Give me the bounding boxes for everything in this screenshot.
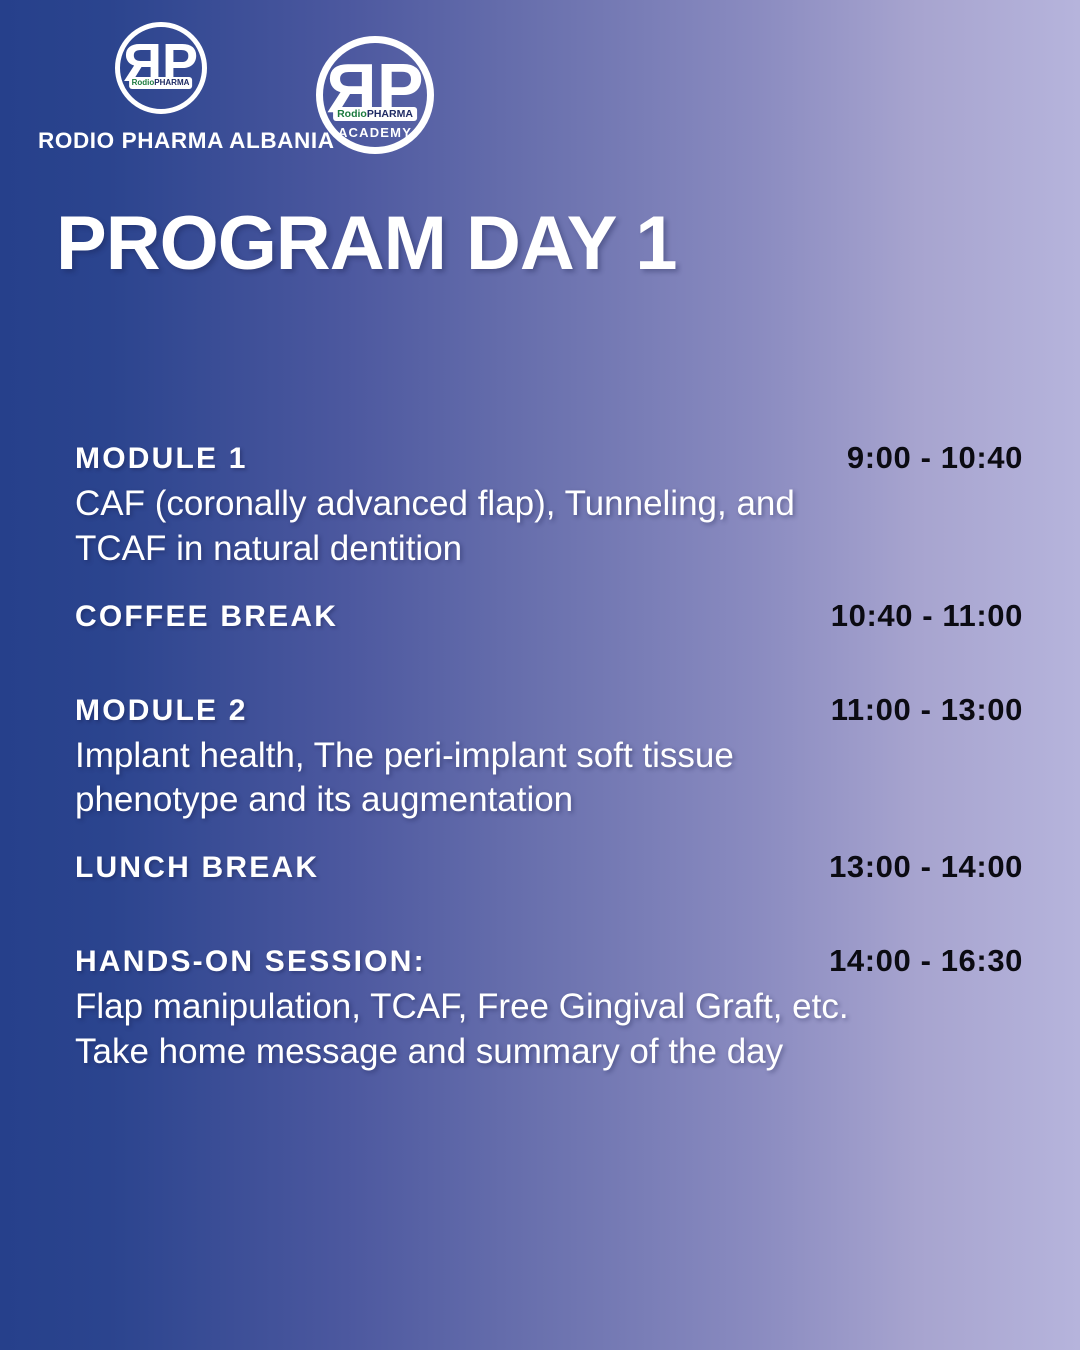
badge-green-text: Rodio (337, 108, 367, 120)
rodio-pharma-albania-logo: RP RodioPHARMA RODIO PHARMA ALBANIA (38, 22, 283, 154)
schedule-label: MODULE 1 (75, 442, 248, 476)
rp-monogram-icon: RP RodioPHARMA (115, 22, 207, 114)
schedule-row-head: MODULE 1 9:00 - 10:40 (75, 440, 1023, 476)
rp-academy-monogram-icon: RP RodioPHARMA ACADEMY (316, 36, 434, 154)
schedule-row: MODULE 2 11:00 - 13:00 Implant health, T… (75, 692, 1023, 824)
schedule-time: 9:00 - 10:40 (847, 440, 1023, 476)
schedule-row: LUNCH BREAK 13:00 - 14:00 (75, 849, 1023, 885)
schedule-row-head: COFFEE BREAK 10:40 - 11:00 (75, 598, 1023, 634)
rodio-pharma-badge: RodioPHARMA (333, 107, 417, 122)
schedule-list: MODULE 1 9:00 - 10:40 CAF (coronally adv… (75, 440, 1023, 1075)
spacer (75, 885, 1023, 943)
schedule-label: LUNCH BREAK (75, 851, 319, 885)
academy-word: ACADEMY (338, 126, 412, 139)
schedule-description: Flap manipulation, TCAF, Free Gingival G… (75, 985, 1023, 1075)
spacer (75, 634, 1023, 692)
schedule-description: CAF (coronally advanced flap), Tunneling… (75, 482, 1023, 572)
rodio-pharma-academy-logo: RP RodioPHARMA ACADEMY (310, 36, 440, 154)
spacer (75, 572, 1023, 598)
schedule-row-head: HANDS-ON SESSION: 14:00 - 16:30 (75, 943, 1023, 979)
schedule-label: HANDS-ON SESSION: (75, 945, 426, 979)
schedule-time: 10:40 - 11:00 (831, 598, 1023, 634)
schedule-time: 13:00 - 14:00 (829, 849, 1023, 885)
badge-green-text: Rodio (132, 78, 155, 87)
schedule-time: 14:00 - 16:30 (829, 943, 1023, 979)
header-logos: RP RodioPHARMA RODIO PHARMA ALBANIA RP R… (0, 22, 1080, 172)
company-caption: RODIO PHARMA ALBANIA (38, 128, 283, 154)
schedule-row: HANDS-ON SESSION: 14:00 - 16:30 Flap man… (75, 943, 1023, 1075)
rodio-pharma-badge: RodioPHARMA (129, 77, 193, 89)
schedule-time: 11:00 - 13:00 (831, 692, 1023, 728)
schedule-row: COFFEE BREAK 10:40 - 11:00 (75, 598, 1023, 634)
schedule-label: MODULE 2 (75, 694, 248, 728)
page-title: PROGRAM DAY 1 (56, 206, 677, 282)
schedule-row-head: MODULE 2 11:00 - 13:00 (75, 692, 1023, 728)
badge-dark-text: PHARMA (154, 78, 189, 87)
badge-dark-text: PHARMA (367, 108, 413, 120)
schedule-row-head: LUNCH BREAK 13:00 - 14:00 (75, 849, 1023, 885)
spacer (75, 823, 1023, 849)
rp-letters: RP (120, 27, 202, 109)
schedule-row: MODULE 1 9:00 - 10:40 CAF (coronally adv… (75, 440, 1023, 572)
schedule-description: Implant health, The peri-implant soft ti… (75, 734, 1023, 824)
schedule-label: COFFEE BREAK (75, 600, 338, 634)
